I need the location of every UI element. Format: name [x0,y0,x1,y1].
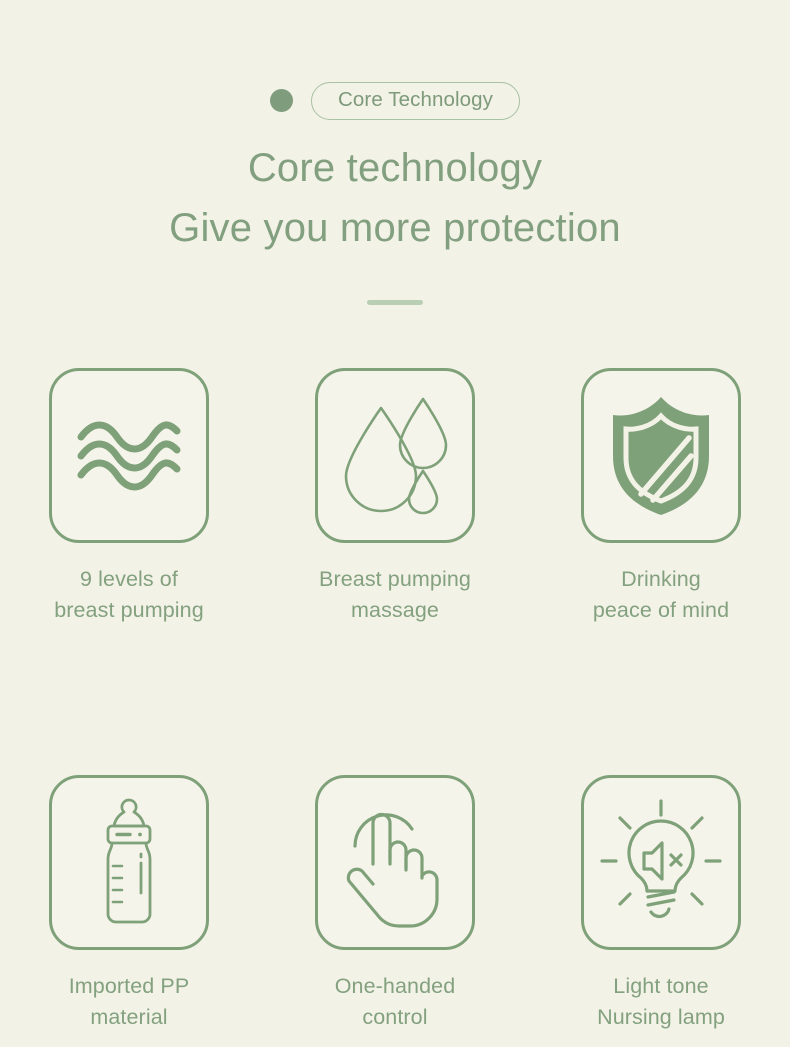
tap-hand-icon [343,798,447,928]
heading-block: Core technology Give you more protection [0,143,790,253]
feature-card [581,368,741,543]
page-title: Core technology [0,143,790,193]
page-subtitle: Give you more protection [0,203,790,253]
feature-label: Imported PP material [46,971,212,1032]
eyebrow-row: Core Technology [0,82,790,120]
baby-bottle-icon [91,796,167,930]
section-divider [367,300,423,305]
night-lamp-mute-icon [598,799,724,927]
feature-card [315,775,475,950]
feature-item-bottle: Imported PP material [46,775,212,1032]
feature-row-2: Imported PP material [0,775,790,1032]
feature-label: 9 levels of breast pumping [54,564,204,625]
feature-card [315,368,475,543]
feature-label: Drinking peace of mind [593,564,729,625]
feature-item-shield: Drinking peace of mind [578,368,744,625]
feature-item-lamp: Light tone Nursing lamp [578,775,744,1032]
feature-label: Light tone Nursing lamp [597,971,725,1032]
feature-grid: 9 levels of breast pumping Breast pumpin… [0,368,790,1032]
feature-card [49,368,209,543]
waves-icon [77,419,181,493]
feature-card [49,775,209,950]
shield-icon [605,394,717,518]
water-drops-icon [340,395,450,517]
bullet-dot-icon [270,89,293,112]
feature-card [581,775,741,950]
feature-item-drops: Breast pumping massage [312,368,478,625]
feature-label: Breast pumping massage [319,564,471,625]
eyebrow-badge: Core Technology [311,82,520,120]
feature-row-1: 9 levels of breast pumping Breast pumpin… [0,368,790,625]
feature-label: One-handed control [312,971,478,1032]
feature-item-waves: 9 levels of breast pumping [46,368,212,625]
feature-item-hand: One-handed control [312,775,478,1032]
